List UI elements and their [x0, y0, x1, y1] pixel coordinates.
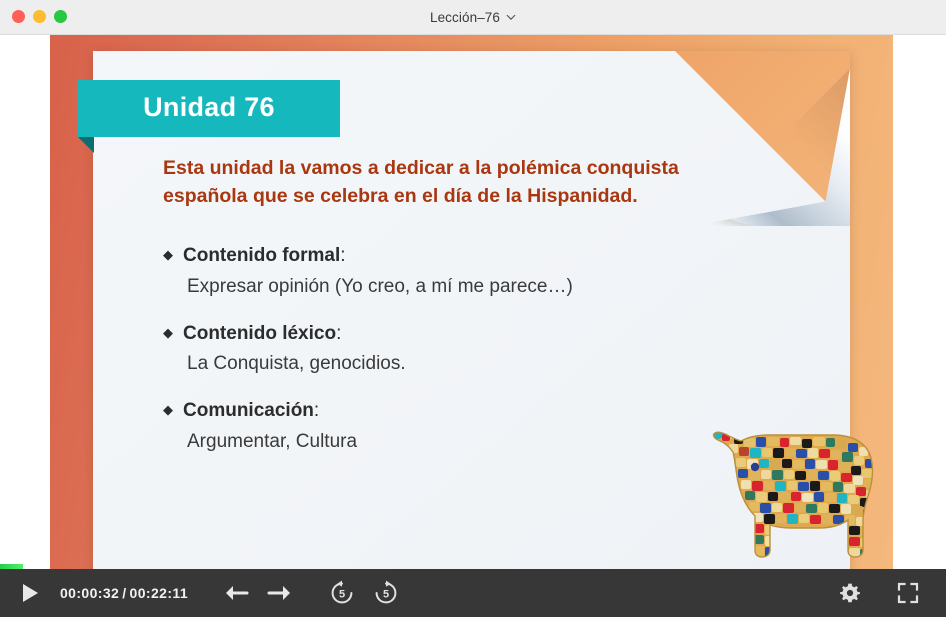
video-player-window: Lección–76 Unidad 76 Esta unidad la vamo… [0, 0, 946, 617]
current-time: 00:00:32 [60, 585, 119, 601]
arrow-left-icon[interactable] [222, 579, 250, 607]
slide-content: Esta unidad la vamos a dedicar a la polé… [163, 155, 723, 475]
bullet-label: Contenido formal [183, 245, 340, 266]
bullet-detail: Argumentar, Cultura [187, 429, 723, 455]
bullet-colon: : [336, 323, 341, 344]
mosaic-bull-figurine-image [705, 410, 893, 565]
diamond-bullet-icon: ◆ [163, 326, 173, 339]
chevron-down-icon[interactable] [506, 12, 516, 22]
bullet-heading: ◆ Contenido formal: [163, 243, 723, 269]
svg-text:5: 5 [383, 589, 389, 601]
player-controls-left: 00:00:32/00:22:11 [0, 579, 400, 607]
list-item: ◆ Comunicación: Argumentar, Cultura [163, 398, 723, 454]
player-timecode: 00:00:32/00:22:11 [60, 585, 188, 601]
forward-5-icon[interactable]: 5 [372, 579, 400, 607]
unit-banner-fold [78, 137, 94, 153]
bullet-colon: : [340, 245, 345, 266]
slide-intro-text: Esta unidad la vamos a dedicar a la polé… [163, 155, 723, 210]
bullet-label: Contenido léxico [183, 323, 336, 344]
rewind-5-icon[interactable]: 5 [328, 579, 356, 607]
unit-banner: Unidad 76 [78, 80, 340, 137]
window-title-group: Lección–76 [0, 0, 946, 35]
window-titlebar: Lección–76 [0, 0, 946, 35]
video-stage[interactable]: Unidad 76 Esta unidad la vamos a dedicar… [50, 35, 893, 569]
unit-banner-label: Unidad 76 [78, 80, 340, 137]
list-item: ◆ Contenido léxico: La Conquista, genoci… [163, 321, 723, 377]
gear-icon[interactable] [836, 579, 864, 607]
play-icon[interactable] [16, 579, 44, 607]
bullet-heading: ◆ Comunicación: [163, 398, 723, 424]
diamond-bullet-icon: ◆ [163, 403, 173, 416]
fullscreen-icon[interactable] [894, 579, 922, 607]
player-control-bar: 00:00:32/00:22:11 [0, 569, 946, 617]
window-title: Lección–76 [430, 10, 500, 25]
total-time: 00:22:11 [130, 585, 188, 601]
list-item: ◆ Contenido formal: Expresar opinión (Yo… [163, 243, 723, 299]
bullet-label: Comunicación [183, 400, 314, 421]
arrow-right-icon[interactable] [266, 579, 294, 607]
svg-text:5: 5 [339, 589, 345, 601]
bullet-detail: La Conquista, genocidios. [187, 351, 723, 377]
bullet-heading: ◆ Contenido léxico: [163, 321, 723, 347]
player-controls-right [836, 579, 946, 607]
bullet-colon: : [314, 400, 319, 421]
bullet-detail: Expresar opinión (Yo creo, a mí me parec… [187, 274, 723, 300]
diamond-bullet-icon: ◆ [163, 248, 173, 261]
time-separator: / [119, 585, 129, 601]
